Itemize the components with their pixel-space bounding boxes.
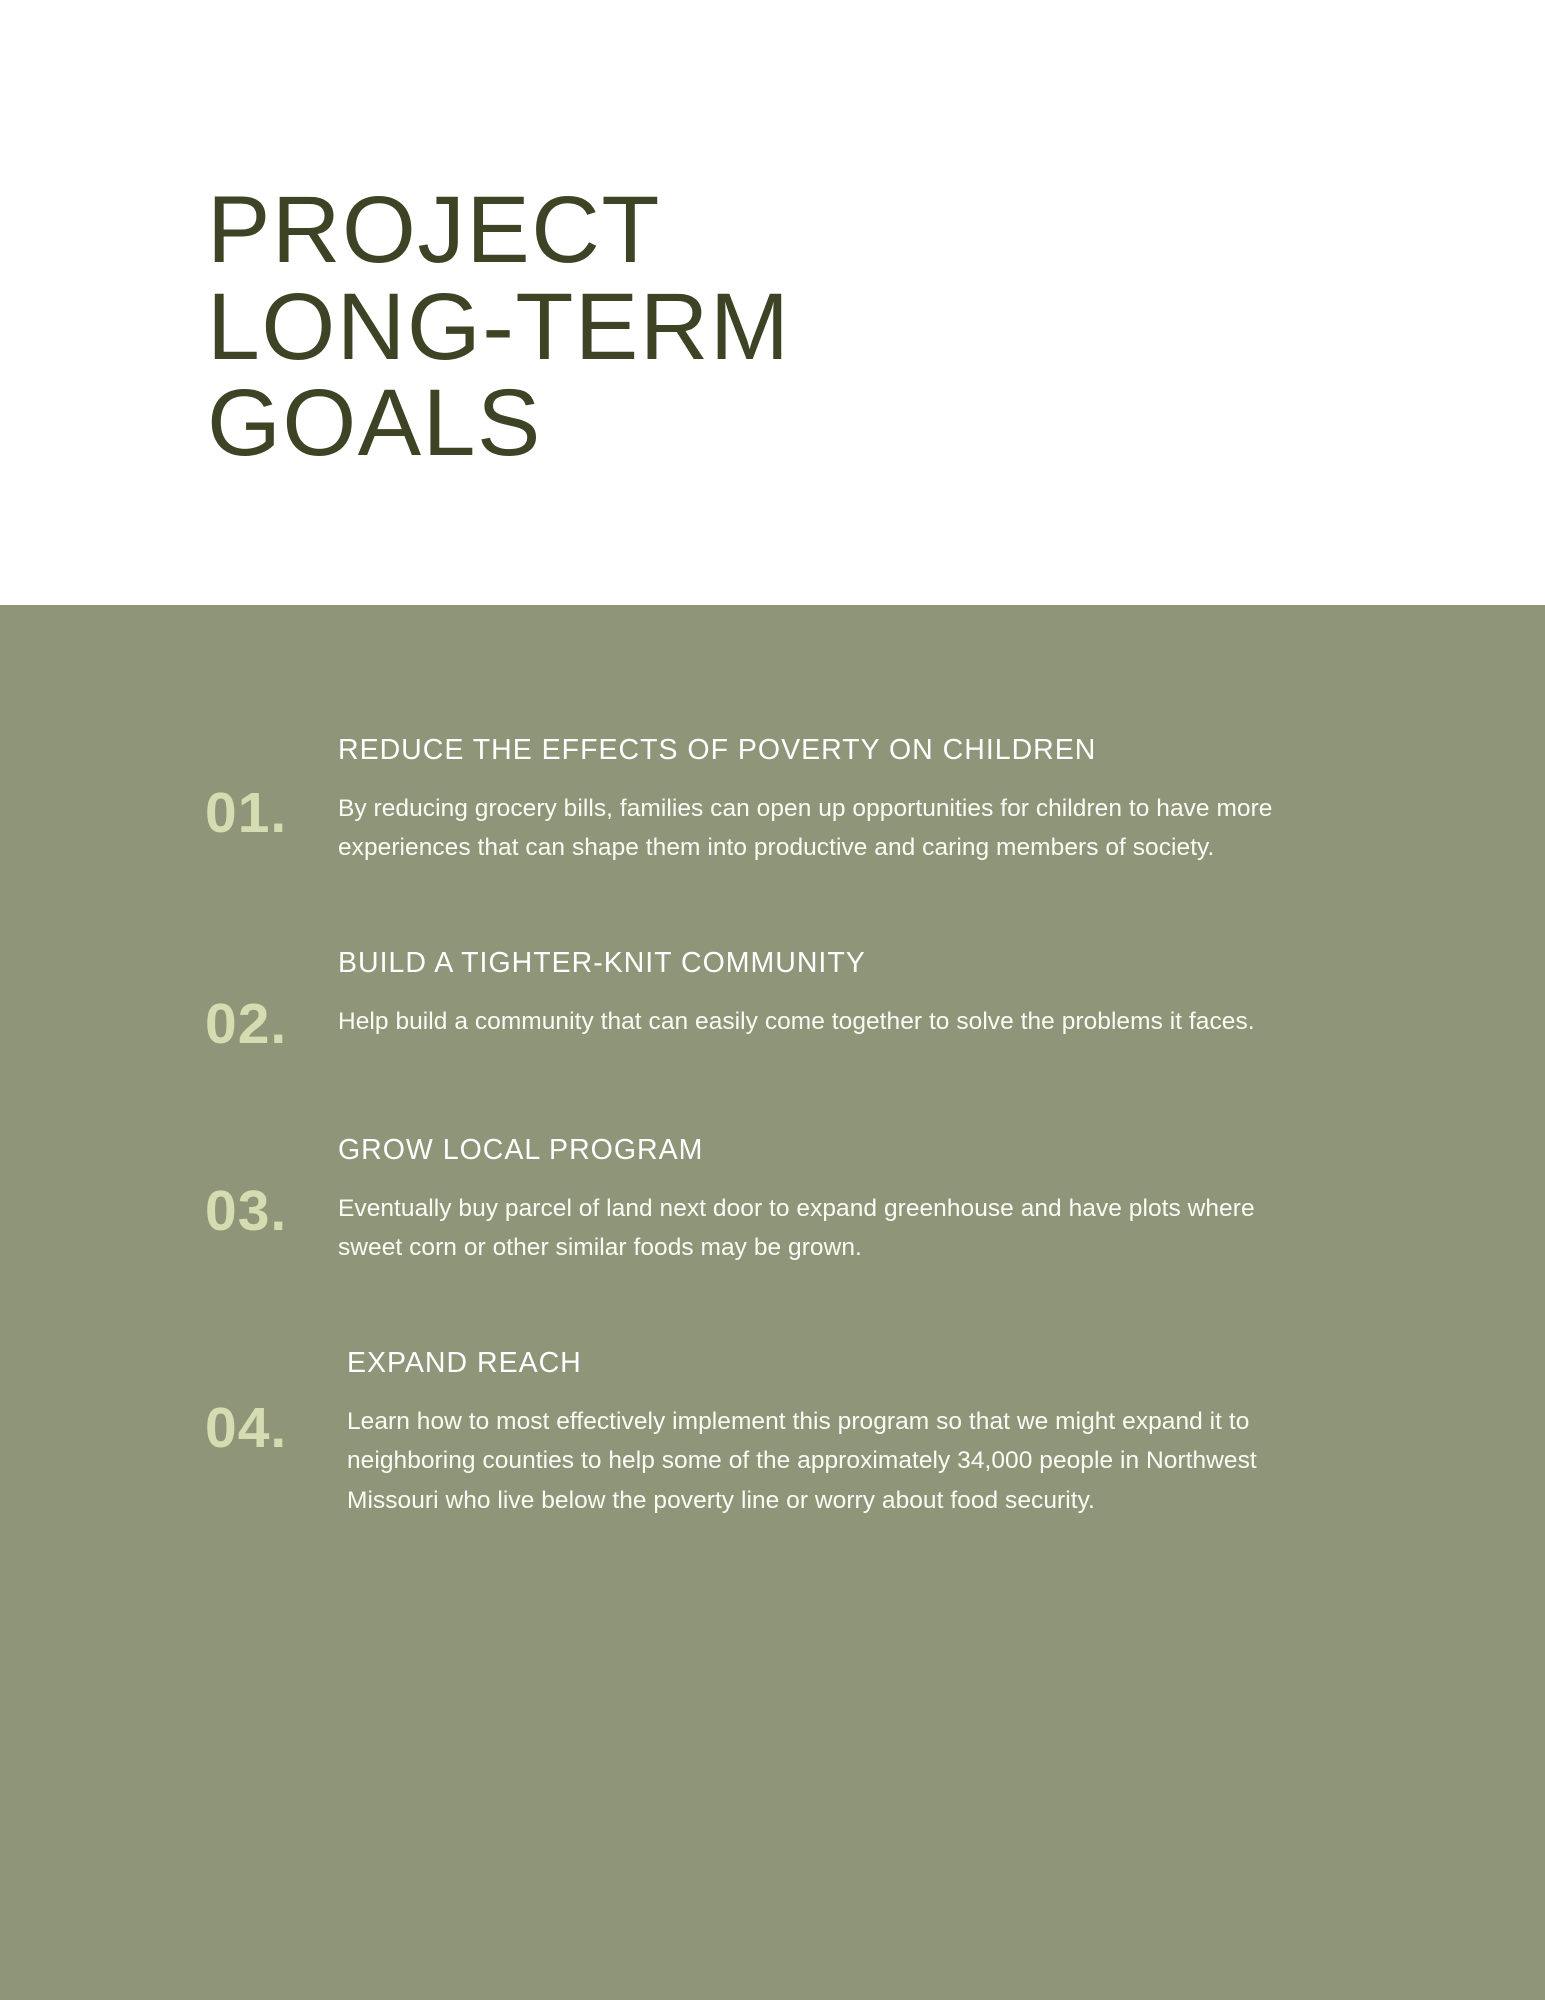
goal-text-02: Help build a community that can easily c…	[338, 1002, 1288, 1042]
goal-text-03: Eventually buy parcel of land next door …	[338, 1189, 1288, 1268]
goal-text-01: By reducing grocery bills, families can …	[338, 789, 1288, 868]
goal-number-04: 04.	[205, 1346, 335, 1457]
page-title: PROJECT LONG-TERM GOALS	[207, 182, 1307, 473]
goal-heading-01: REDUCE THE EFFECTS OF POVERTY ON CHILDRE…	[338, 733, 1288, 769]
goal-number-02: 02.	[205, 946, 335, 1053]
goal-item-04: 04. EXPAND REACH Learn how to most effec…	[0, 1346, 1545, 1521]
goal-body-02: BUILD A TIGHTER-KNIT COMMUNITY Help buil…	[335, 946, 1288, 1041]
header-band: PROJECT LONG-TERM GOALS	[0, 0, 1545, 605]
goal-number-01: 01.	[205, 733, 335, 842]
goal-body-01: REDUCE THE EFFECTS OF POVERTY ON CHILDRE…	[335, 733, 1288, 868]
goal-body-03: GROW LOCAL PROGRAM Eventually buy parcel…	[335, 1133, 1288, 1268]
goal-text-04: Learn how to most effectively implement …	[338, 1402, 1288, 1521]
goal-item-01: 01. REDUCE THE EFFECTS OF POVERTY ON CHI…	[0, 733, 1545, 868]
goals-section: 01. REDUCE THE EFFECTS OF POVERTY ON CHI…	[0, 605, 1545, 2000]
goal-item-02: 02. BUILD A TIGHTER-KNIT COMMUNITY Help …	[0, 946, 1545, 1053]
goal-number-03: 03.	[205, 1133, 335, 1240]
goal-heading-02: BUILD A TIGHTER-KNIT COMMUNITY	[338, 946, 1288, 982]
slide-page: PROJECT LONG-TERM GOALS 01. REDUCE THE E…	[0, 0, 1545, 2000]
goal-item-03: 03. GROW LOCAL PROGRAM Eventually buy pa…	[0, 1133, 1545, 1268]
goal-heading-04: EXPAND REACH	[338, 1346, 1288, 1382]
goal-body-04: EXPAND REACH Learn how to most effective…	[335, 1346, 1288, 1521]
goals-list: 01. REDUCE THE EFFECTS OF POVERTY ON CHI…	[0, 733, 1545, 1521]
goal-heading-03: GROW LOCAL PROGRAM	[338, 1133, 1288, 1169]
